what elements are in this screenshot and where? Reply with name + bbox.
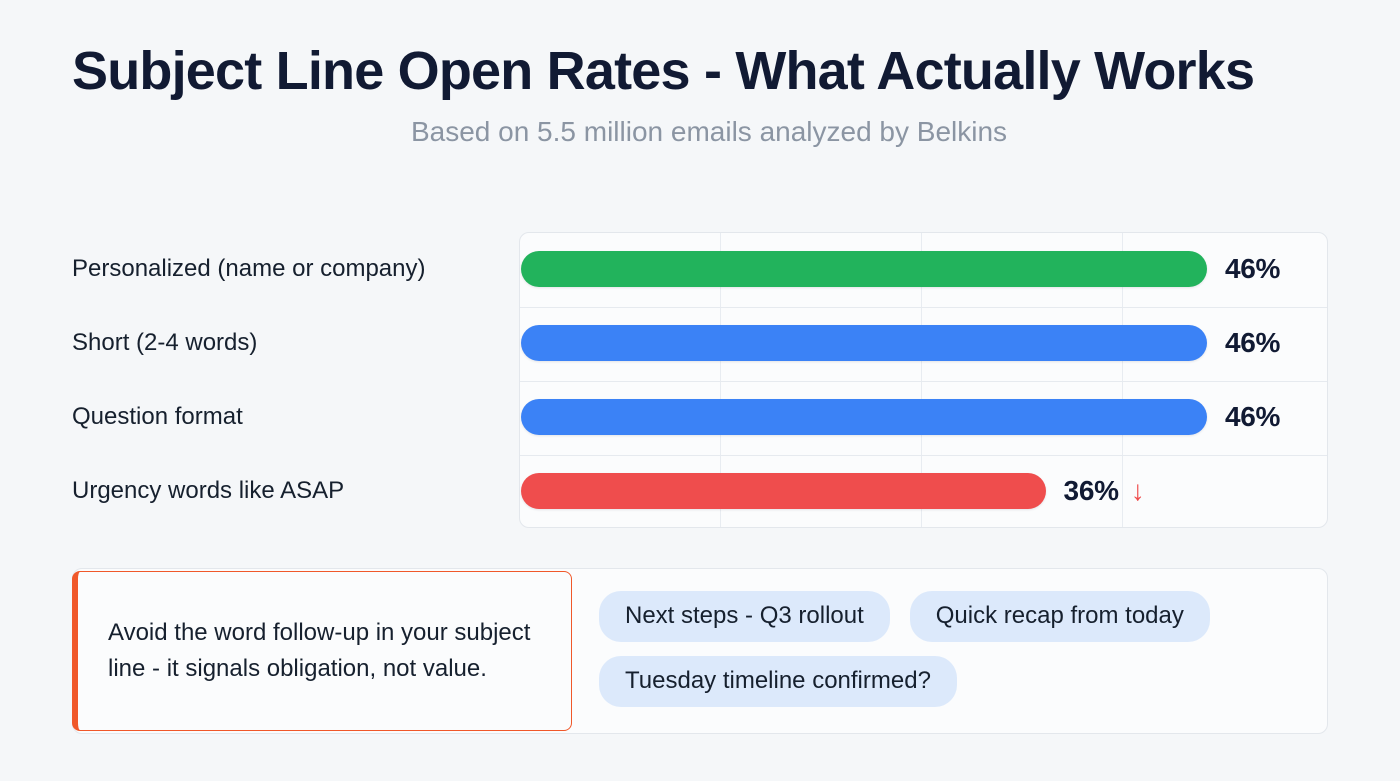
infographic-page: Subject Line Open Rates - What Actually … — [0, 0, 1400, 781]
bar-track: 36%↓ — [521, 473, 1328, 509]
page-title: Subject Line Open Rates - What Actually … — [0, 42, 1400, 100]
chart-row: Question format46% — [72, 380, 1328, 454]
header: Subject Line Open Rates - What Actually … — [0, 42, 1400, 148]
bottom-section: Next steps - Q3 rolloutQuick recap from … — [72, 568, 1328, 734]
bar-green — [521, 251, 1207, 287]
chart-rows: Personalized (name or company)46%Short (… — [72, 232, 1328, 528]
tip-callout-text: Avoid the word follow-up in your subject… — [78, 615, 571, 688]
bar-value-label: 36% — [1064, 475, 1119, 507]
bar-track: 46% — [521, 251, 1328, 287]
chart-row-plot: 36%↓ — [519, 454, 1328, 528]
chart-row-plot: 46% — [519, 232, 1328, 306]
suggestion-chip[interactable]: Next steps - Q3 rollout — [599, 591, 890, 642]
chart-row-plot: 46% — [519, 380, 1328, 454]
chart-row-label: Personalized (name or company) — [72, 255, 519, 284]
bar-blue — [521, 399, 1207, 435]
chart-row-label: Short (2-4 words) — [72, 329, 519, 358]
bar-value-label: 46% — [1225, 327, 1280, 359]
page-subtitle: Based on 5.5 million emails analyzed by … — [0, 116, 1400, 148]
suggestion-chip-list: Next steps - Q3 rolloutQuick recap from … — [599, 591, 1315, 707]
suggestion-chip[interactable]: Quick recap from today — [910, 591, 1210, 642]
trend-down-arrow-icon: ↓ — [1131, 475, 1145, 507]
chart-row-plot: 46% — [519, 306, 1328, 380]
open-rate-bar-chart: Personalized (name or company)46%Short (… — [72, 232, 1328, 528]
chart-row: Personalized (name or company)46% — [72, 232, 1328, 306]
bar-track: 46% — [521, 325, 1328, 361]
bar-track: 46% — [521, 399, 1328, 435]
chart-row: Urgency words like ASAP36%↓ — [72, 454, 1328, 528]
tip-callout: Avoid the word follow-up in your subject… — [72, 571, 572, 731]
bar-blue — [521, 325, 1207, 361]
chart-row: Short (2-4 words)46% — [72, 306, 1328, 380]
suggestion-chip[interactable]: Tuesday timeline confirmed? — [599, 656, 957, 707]
bar-red — [521, 473, 1046, 509]
bar-value-label: 46% — [1225, 401, 1280, 433]
chart-row-label: Question format — [72, 403, 519, 432]
bar-value-label: 46% — [1225, 253, 1280, 285]
chart-row-label: Urgency words like ASAP — [72, 477, 519, 506]
